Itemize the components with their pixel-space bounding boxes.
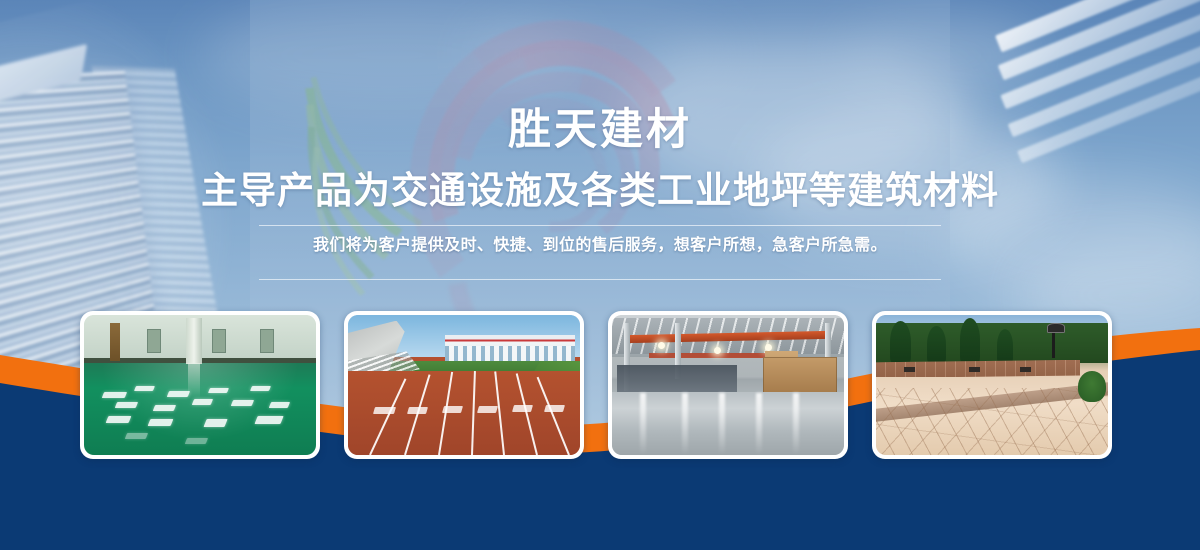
track-marking: [442, 406, 463, 413]
hall-window: [260, 329, 274, 353]
wall-vent: [904, 367, 916, 373]
green-epoxy-floor-photo: [84, 315, 316, 455]
thumbnail-green-epoxy-floor[interactable]: [80, 311, 320, 459]
floor-light-reflection: [125, 433, 148, 439]
floor-reflection: [640, 393, 646, 455]
building-windows: [445, 346, 575, 361]
cypress-tree: [960, 318, 981, 363]
floor-light-reflection: [134, 386, 155, 391]
floor-reflection: [793, 393, 799, 455]
headline-text: 主导产品为交通设施及各类工业地坪等建筑材料: [0, 170, 1200, 213]
floor-light-reflection: [166, 391, 189, 397]
thumbnail-stamped-concrete-plaza[interactable]: [872, 311, 1112, 459]
hall-column: [186, 318, 202, 364]
cypress-tree: [890, 321, 911, 363]
floor-light-reflection: [148, 419, 174, 426]
floor-light-reflection: [152, 405, 175, 411]
brand-title: 胜天建材: [0, 105, 1200, 156]
machinery-row: [617, 365, 738, 393]
tree-hedge-row: [876, 323, 1108, 362]
running-track-photo: [348, 315, 580, 455]
floor-light-reflection: [254, 416, 283, 424]
cypress-tree: [997, 329, 1013, 363]
floor-light-reflection: [106, 416, 132, 423]
floor-light-reflection: [250, 386, 271, 391]
polished-concrete-floor: [612, 392, 844, 455]
lamp-post-head: [1047, 323, 1066, 333]
promo-banner: 胜天建材 主导产品为交通设施及各类工业地坪等建筑材料 我们将为客户提供及时、快捷…: [0, 0, 1200, 550]
banner-text-block: 胜天建材 主导产品为交通设施及各类工业地坪等建筑材料 我们将为客户提供及时、快捷…: [0, 105, 1200, 280]
floor-light-reflection: [268, 402, 289, 408]
ceiling-lamp: [658, 342, 665, 349]
wall-vent: [1020, 367, 1032, 373]
shrub: [1078, 371, 1106, 402]
hall-window: [212, 329, 226, 353]
floor-reflection: [719, 393, 725, 455]
floor-light-reflection: [185, 438, 208, 444]
track-marking: [407, 407, 428, 414]
floor-light-reflection: [192, 399, 213, 405]
track-marking: [512, 405, 533, 412]
divider-line-bottom: [259, 279, 941, 280]
thumbnail-running-track[interactable]: [344, 311, 584, 459]
warehouse-floor-photo: [612, 315, 844, 455]
stamped-concrete-plaza-photo: [876, 315, 1108, 455]
floor-light-reflection: [231, 400, 254, 406]
floor-light-reflection: [101, 392, 126, 398]
floor-reflection: [756, 393, 762, 455]
floor-light-reflection: [208, 388, 229, 393]
hall-window: [147, 329, 161, 353]
wall-vent: [969, 367, 981, 373]
floor-light-reflection: [203, 419, 227, 427]
track-marking: [373, 407, 396, 414]
wooden-door: [110, 323, 120, 361]
track-marking: [477, 406, 498, 413]
thumbnail-strip: [0, 311, 1200, 459]
track-marking: [544, 405, 565, 412]
subtitle-text: 我们将为客户提供及时、快捷、到位的售后服务，想客户所想，急客户所急需。: [0, 226, 1200, 266]
overhead-crane-rail: [649, 353, 779, 358]
floor-reflection: [682, 393, 688, 455]
cypress-tree: [927, 326, 946, 362]
stamped-pattern-texture: [876, 388, 1108, 455]
wooden-crate-stack: [763, 357, 837, 393]
floor-light-reflection: [115, 402, 138, 408]
thumbnail-polished-concrete-warehouse[interactable]: [608, 311, 848, 459]
